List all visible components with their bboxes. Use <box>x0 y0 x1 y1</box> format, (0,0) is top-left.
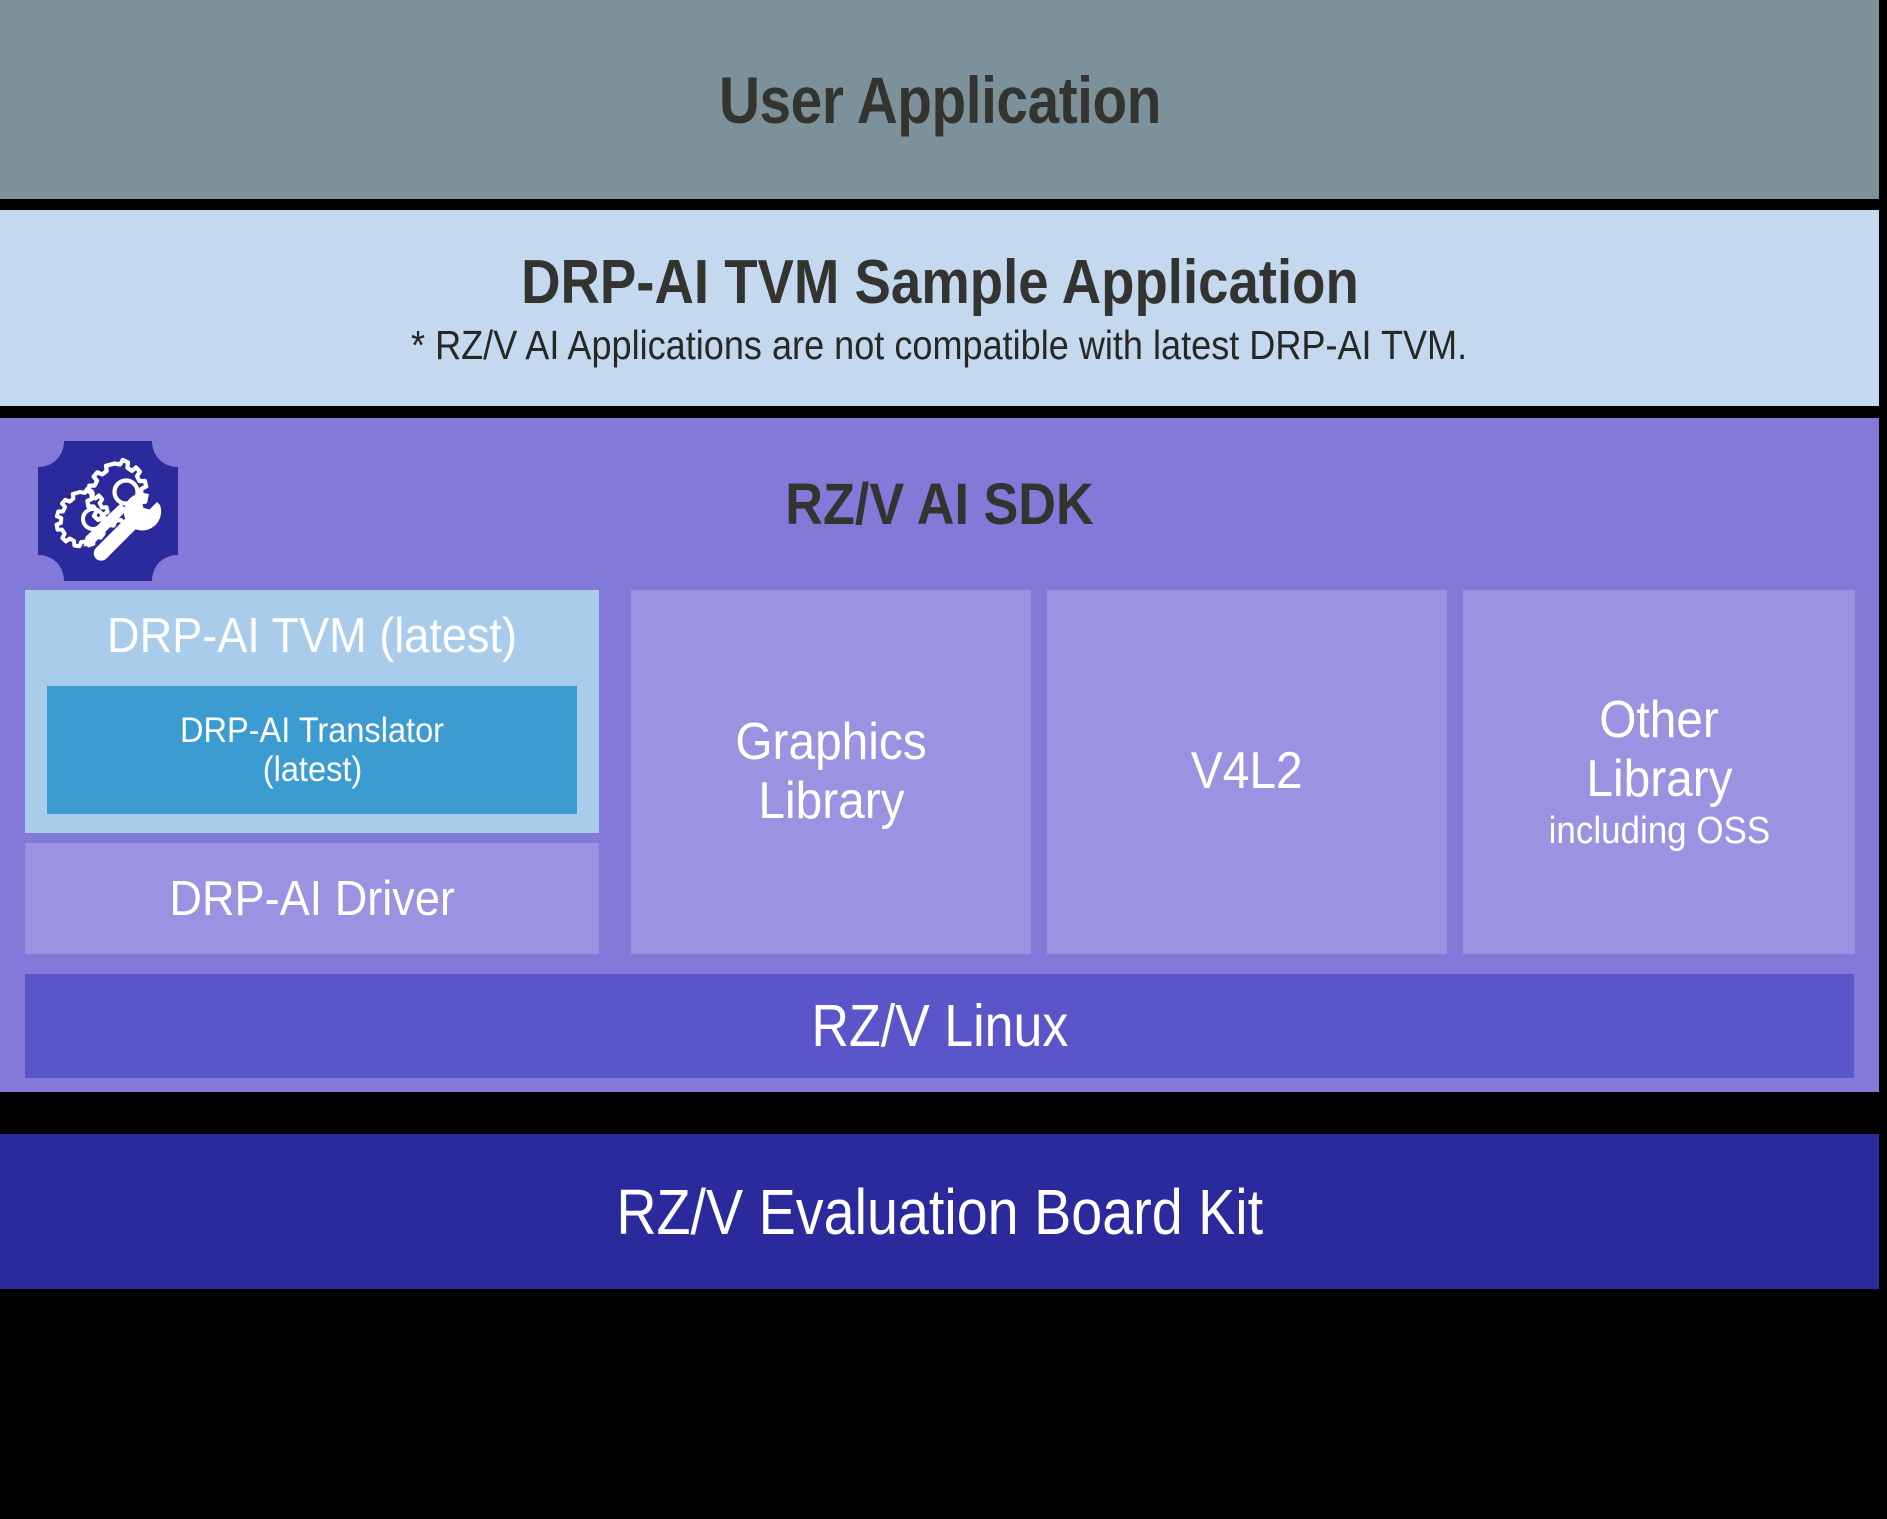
other-library-sub: including OSS <box>1548 810 1770 853</box>
drp-ai-translator-label: DRP-AI Translator <box>180 711 444 750</box>
evaluation-board-kit-title: RZ/V Evaluation Board Kit <box>616 1175 1263 1249</box>
layer-sample-application: DRP-AI TVM Sample Application * RZ/V AI … <box>0 210 1879 406</box>
rzv-ai-sdk-title: RZ/V AI SDK <box>94 471 1785 538</box>
layer-rzv-ai-sdk: RZ/V AI SDK DRP-AI TVM (latest) DRP-AI T… <box>0 418 1879 1092</box>
sample-application-note: * RZ/V AI Applications are not compatibl… <box>411 322 1467 369</box>
drp-ai-column: DRP-AI TVM (latest) DRP-AI Translator (l… <box>25 590 599 954</box>
software-stack-diagram: User Application DRP-AI TVM Sample Appli… <box>0 0 1887 1519</box>
graphics-library-line2: Library <box>758 772 904 831</box>
block-v4l2: V4L2 <box>1047 590 1447 954</box>
rzv-linux-label: RZ/V Linux <box>811 992 1068 1060</box>
user-application-title: User Application <box>718 62 1160 138</box>
block-drp-ai-driver: DRP-AI Driver <box>25 843 599 954</box>
drp-ai-driver-label: DRP-AI Driver <box>169 871 455 927</box>
drp-ai-translator-version: (latest) <box>262 750 361 789</box>
other-library-line1: Other <box>1599 691 1719 750</box>
v4l2-label: V4L2 <box>1191 742 1303 801</box>
other-library-line2: Library <box>1586 750 1732 809</box>
graphics-library-line1: Graphics <box>735 713 926 772</box>
block-graphics-library: Graphics Library <box>631 590 1031 954</box>
block-drp-ai-translator: DRP-AI Translator (latest) <box>47 686 577 814</box>
sample-application-title: DRP-AI TVM Sample Application <box>521 247 1359 318</box>
block-drp-ai-tvm: DRP-AI TVM (latest) DRP-AI Translator (l… <box>25 590 599 833</box>
drp-ai-tvm-label: DRP-AI TVM (latest) <box>48 608 576 664</box>
block-other-library: Other Library including OSS <box>1463 590 1855 954</box>
layer-evaluation-board-kit: RZ/V Evaluation Board Kit <box>0 1134 1879 1289</box>
block-rzv-linux: RZ/V Linux <box>25 974 1854 1078</box>
layer-user-application: User Application <box>0 0 1879 199</box>
